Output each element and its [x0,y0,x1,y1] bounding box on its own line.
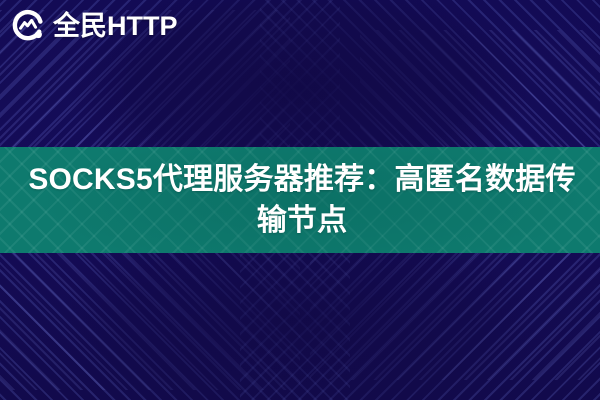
headline-band: SOCKS5代理服务器推荐：高匿名数据传输节点 [0,147,600,253]
page-title: SOCKS5代理服务器推荐：高匿名数据传输节点 [0,147,600,241]
quanmin-http-circle-mark-icon [11,9,45,43]
brand-logo[interactable]: 全民HTTP [11,9,178,43]
promo-banner: 全民HTTP SOCKS5代理服务器推荐：高匿名数据传输节点 [0,0,600,400]
brand-logo-text: 全民HTTP [53,13,178,40]
